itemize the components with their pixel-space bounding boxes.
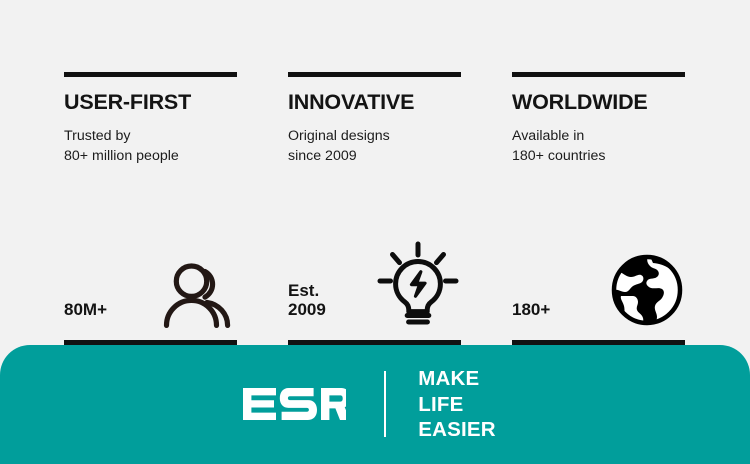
feature-description: Trusted by 80+ million people bbox=[64, 126, 237, 166]
feature-stat-row: 80M+ bbox=[64, 244, 237, 336]
stat-label: 80M+ bbox=[64, 300, 107, 336]
feature-title: WORLDWIDE bbox=[512, 92, 685, 114]
stat-label: Est. 2009 bbox=[288, 281, 326, 336]
feature-card-worldwide: WORLDWIDE Available in 180+ countries 18… bbox=[512, 0, 685, 345]
feature-stat-row: 180+ bbox=[512, 244, 685, 336]
feature-card-innovative: INNOVATIVE Original designs since 2009 E… bbox=[288, 0, 461, 345]
feature-card-user-first: USER-FIRST Trusted by 80+ million people… bbox=[64, 0, 237, 345]
top-rule bbox=[288, 72, 461, 77]
footer-divider bbox=[384, 371, 386, 437]
top-rule bbox=[512, 72, 685, 77]
lightbulb-icon bbox=[375, 240, 461, 328]
brand-footer: MAKE LIFE EASIER bbox=[0, 345, 750, 464]
globe-icon bbox=[609, 252, 685, 328]
feature-title: INNOVATIVE bbox=[288, 92, 461, 114]
stat-label: 180+ bbox=[512, 300, 550, 336]
feature-description: Available in 180+ countries bbox=[512, 126, 685, 166]
top-rule bbox=[64, 72, 237, 77]
feature-title: USER-FIRST bbox=[64, 92, 237, 114]
esr-logo bbox=[242, 385, 346, 423]
feature-stat-row: Est. 2009 bbox=[288, 244, 461, 336]
feature-banner: USER-FIRST Trusted by 80+ million people… bbox=[0, 0, 750, 464]
footer-content: MAKE LIFE EASIER bbox=[242, 366, 496, 443]
users-icon bbox=[155, 256, 237, 328]
brand-tagline: MAKE LIFE EASIER bbox=[418, 366, 496, 443]
feature-columns: USER-FIRST Trusted by 80+ million people… bbox=[0, 0, 750, 345]
feature-description: Original designs since 2009 bbox=[288, 126, 461, 166]
